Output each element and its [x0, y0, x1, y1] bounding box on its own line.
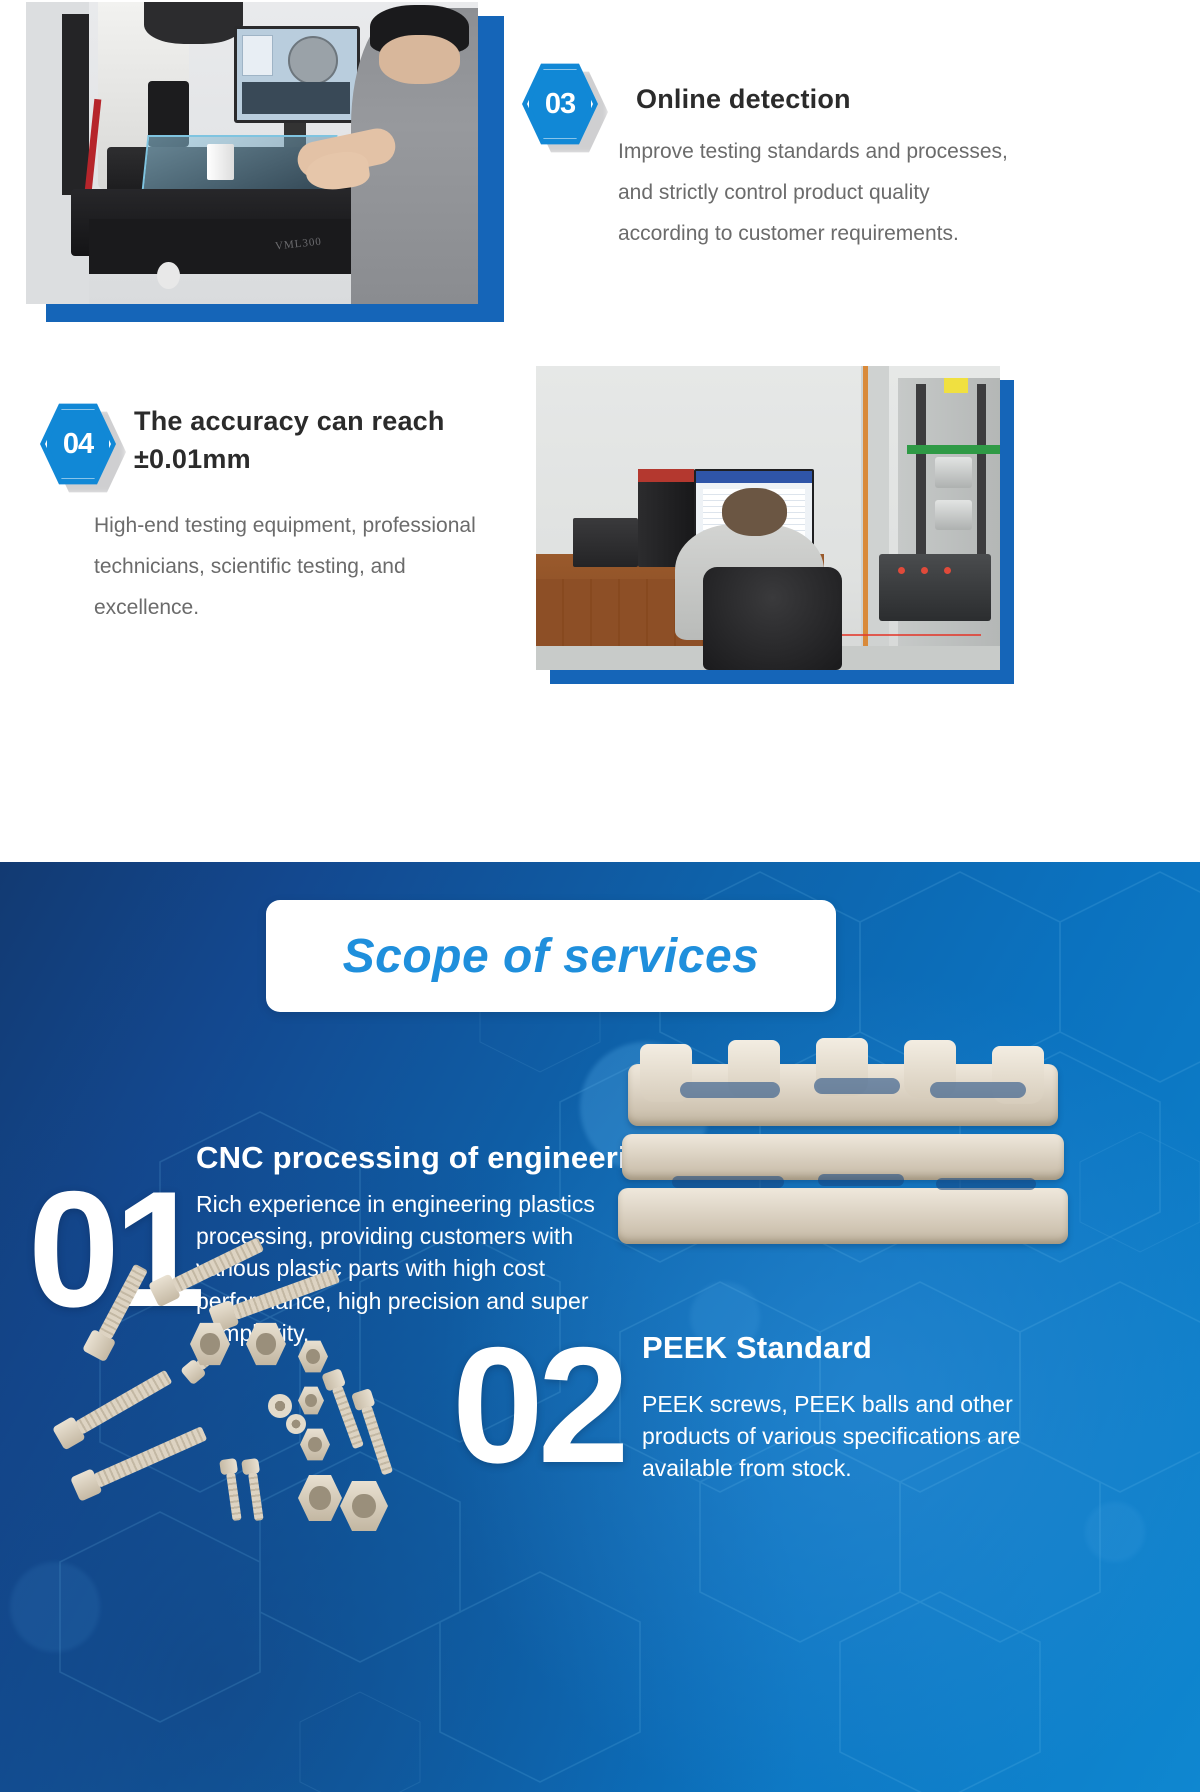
service-title-peek: PEEK Standard [642, 1330, 1072, 1366]
peek-chain-plate-image [618, 1038, 1068, 1276]
measuring-machine-photo: VML300 [26, 2, 478, 304]
features-section: VML300 03 Online detection Improve testi… [0, 0, 1200, 862]
feature-number-03: 03 [522, 62, 598, 146]
peek-fasteners-image [40, 1278, 470, 1568]
feature-body-accuracy: High-end testing equipment, professional… [94, 506, 514, 629]
feature-title-online-detection: Online detection [636, 80, 1056, 118]
scope-banner-title: Scope of services [343, 929, 760, 984]
testing-equipment-photo-frame [536, 366, 1014, 684]
light-blob [1085, 1502, 1145, 1562]
online-detection-photo-frame: VML300 [26, 2, 504, 322]
feature-badge-04: 04 [40, 402, 116, 486]
feature-badge-03: 03 [522, 62, 598, 146]
scope-banner: Scope of services [266, 900, 836, 1012]
service-body-peek: PEEK screws, PEEK balls and other produc… [642, 1388, 1042, 1485]
feature-body-online-detection: Improve testing standards and processes,… [618, 132, 1013, 255]
tensile-tester-photo [536, 366, 1000, 670]
feature-number-04: 04 [40, 402, 116, 486]
light-blob [10, 1562, 100, 1652]
feature-title-accuracy: The accuracy can reach ±0.01mm [134, 402, 504, 479]
service-number-02: 02 [452, 1330, 624, 1482]
page-root: VML300 03 Online detection Improve testi… [0, 0, 1200, 1792]
